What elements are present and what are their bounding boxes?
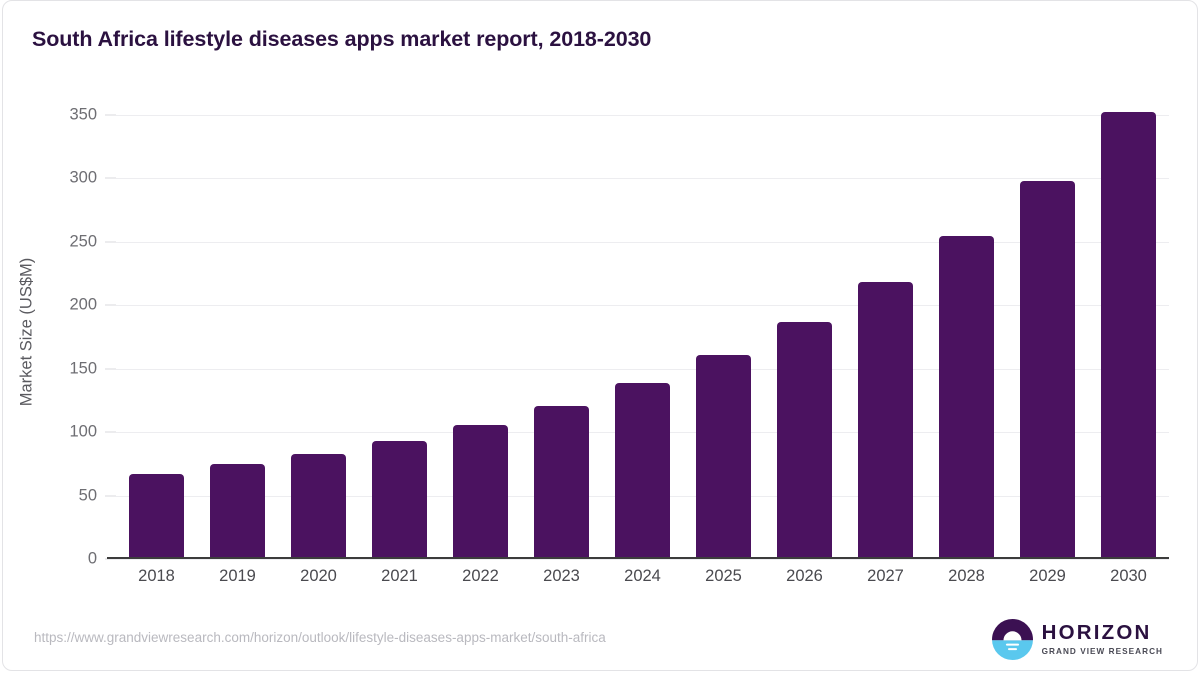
logo-text: HORIZON GRAND VIEW RESEARCH: [1042, 623, 1163, 656]
x-axis-tick-label: 2019: [197, 567, 278, 586]
logo-subtitle: GRAND VIEW RESEARCH: [1042, 648, 1163, 656]
bar-2022[interactable]: [453, 425, 508, 559]
horizon-sunrise-icon: [992, 619, 1033, 660]
bar-2024[interactable]: [615, 383, 670, 559]
bar-slot: [197, 105, 278, 559]
y-axis-tick-mark: [105, 241, 116, 242]
bar-2019[interactable]: [210, 464, 265, 559]
y-axis-tick-label: 150: [69, 359, 97, 378]
bar-2021[interactable]: [372, 441, 427, 559]
y-axis-tick-label: 200: [69, 296, 97, 315]
bar-2027[interactable]: [858, 282, 913, 559]
bar-slot: [1007, 105, 1088, 559]
bar-2023[interactable]: [534, 406, 589, 559]
bar-slot: [764, 105, 845, 559]
x-axis-tick-label: 2030: [1088, 567, 1169, 586]
x-axis-tick-label: 2026: [764, 567, 845, 586]
bar-slot: [278, 105, 359, 559]
x-axis-tick-label: 2020: [278, 567, 359, 586]
y-axis-tick-mark: [105, 495, 116, 496]
x-axis-line: [107, 557, 1169, 559]
x-axis-tick-label: 2018: [116, 567, 197, 586]
y-axis-tick-label: 0: [88, 550, 97, 569]
bar-slot: [926, 105, 1007, 559]
x-axis-labels: 2018201920202021202220232024202520262027…: [116, 567, 1169, 586]
chart-card: South Africa lifestyle diseases apps mar…: [2, 0, 1198, 671]
x-axis-tick-label: 2022: [440, 567, 521, 586]
brand-logo: HORIZON GRAND VIEW RESEARCH: [992, 619, 1163, 660]
plot-area: [116, 105, 1169, 559]
bar-2025[interactable]: [696, 355, 751, 559]
x-axis-tick-label: 2021: [359, 567, 440, 586]
x-axis-tick-label: 2028: [926, 567, 1007, 586]
y-axis-tick-mark: [105, 115, 116, 116]
x-axis-tick-label: 2027: [845, 567, 926, 586]
bar-2028[interactable]: [939, 236, 994, 559]
bar-series: [116, 105, 1169, 559]
bar-slot: [602, 105, 683, 559]
bar-2030[interactable]: [1101, 112, 1156, 559]
bar-slot: [845, 105, 926, 559]
page-title: South Africa lifestyle diseases apps mar…: [32, 27, 651, 52]
y-axis-tick-label: 350: [69, 106, 97, 125]
x-axis-tick-label: 2025: [683, 567, 764, 586]
x-axis-tick-label: 2023: [521, 567, 602, 586]
bar-slot: [683, 105, 764, 559]
bar-slot: [116, 105, 197, 559]
logo-wordmark: HORIZON: [1042, 623, 1163, 644]
source-url[interactable]: https://www.grandviewresearch.com/horizo…: [34, 630, 606, 645]
y-axis-tick-label: 300: [69, 169, 97, 188]
bar-slot: [1088, 105, 1169, 559]
gridline: [116, 559, 1169, 560]
bar-slot: [359, 105, 440, 559]
y-axis-tick-label: 250: [69, 232, 97, 251]
x-axis-tick-label: 2029: [1007, 567, 1088, 586]
y-axis-tick-mark: [105, 432, 116, 433]
bar-2020[interactable]: [291, 454, 346, 559]
y-axis-tick-label: 100: [69, 423, 97, 442]
y-axis-tick-label: 50: [79, 486, 97, 505]
x-axis-tick-label: 2024: [602, 567, 683, 586]
y-axis-tick-mark: [105, 368, 116, 369]
bar-slot: [440, 105, 521, 559]
y-axis-tick-mark: [105, 178, 116, 179]
bar-2026[interactable]: [777, 322, 832, 559]
y-axis-ticks: 050100150200250300350: [3, 105, 116, 559]
bar-2029[interactable]: [1020, 181, 1075, 559]
bar-slot: [521, 105, 602, 559]
y-axis-tick-mark: [105, 305, 116, 306]
bar-2018[interactable]: [129, 474, 184, 559]
